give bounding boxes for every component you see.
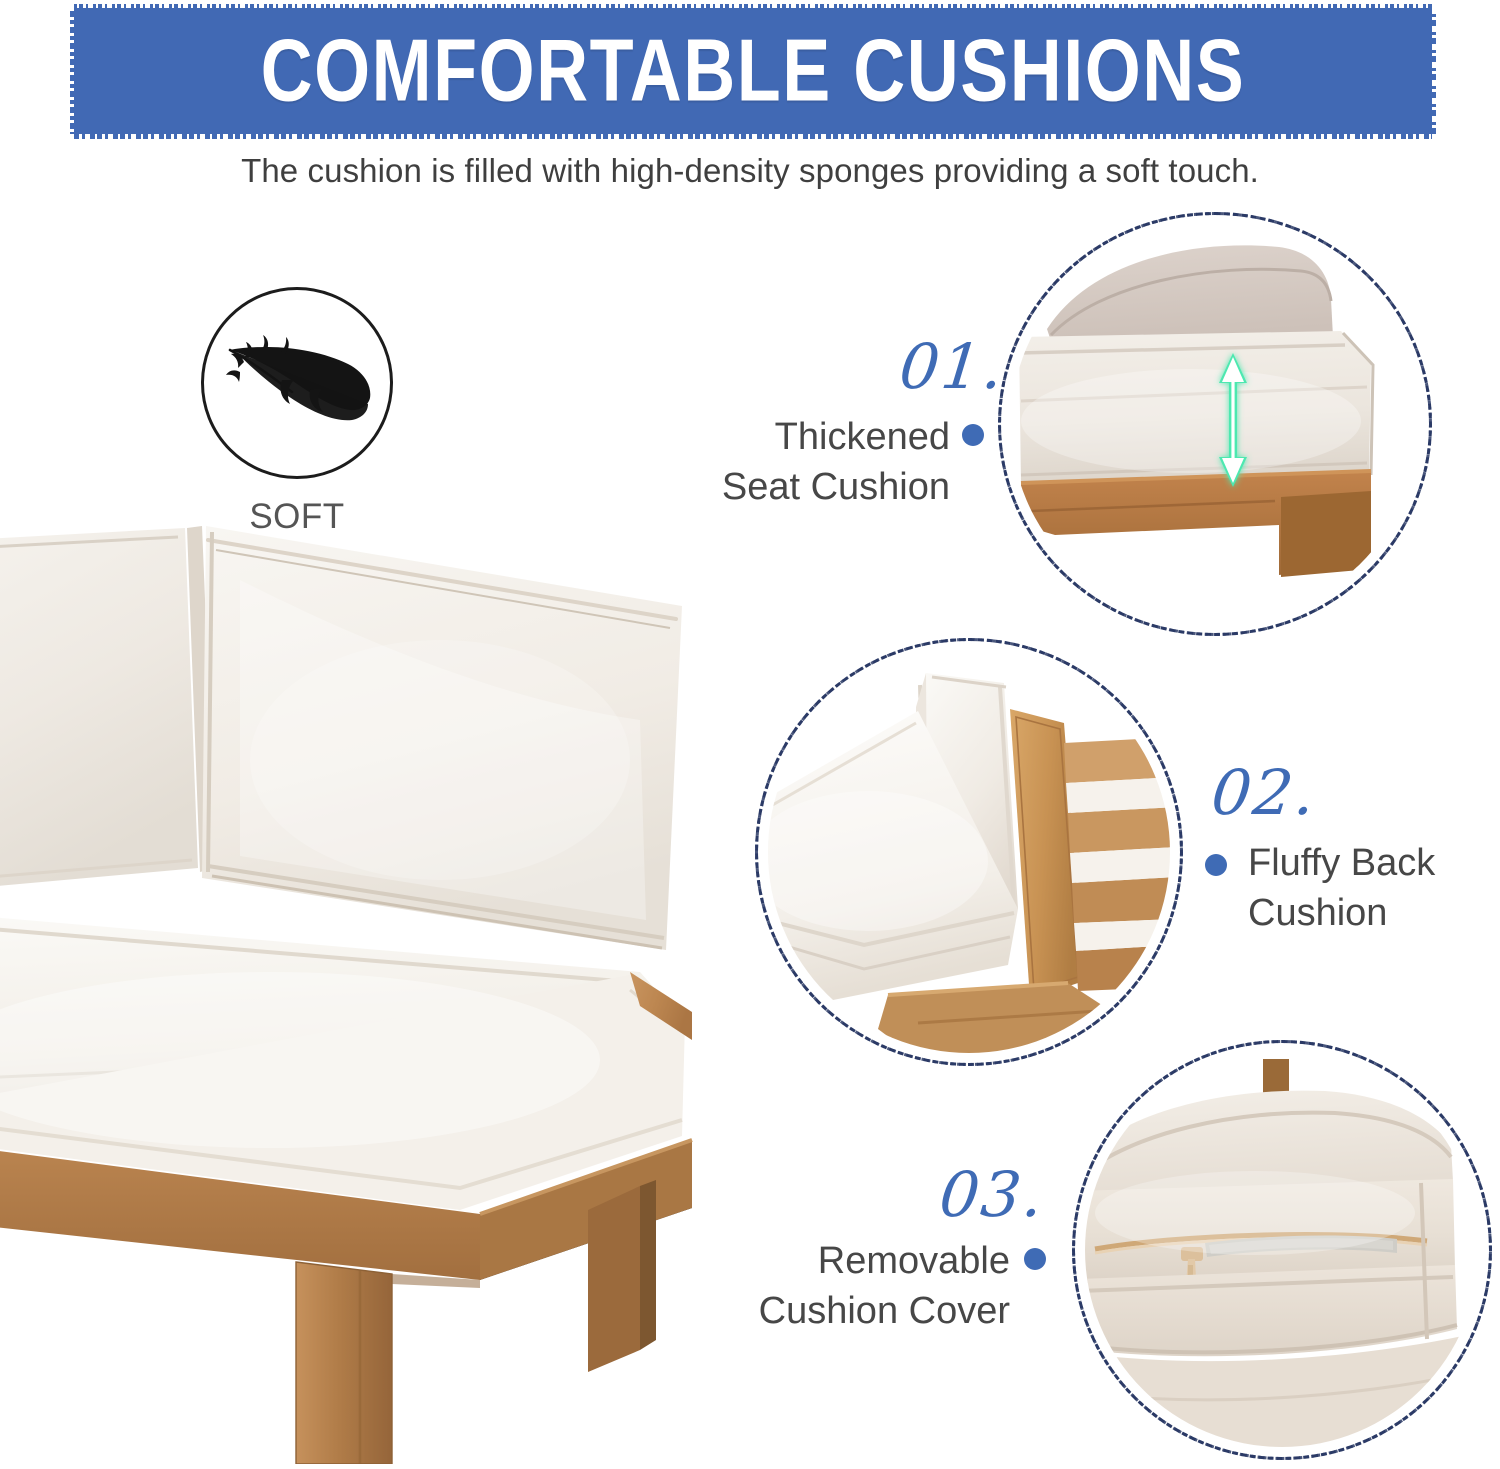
callout-label-01: Thickened Seat Cushion (620, 412, 950, 512)
circle-photo-inner-03 (1085, 1053, 1479, 1447)
callout-bullet-03 (1024, 1248, 1046, 1270)
circle-photo-inner-02 (768, 651, 1170, 1053)
soft-badge: SOFT (197, 287, 397, 537)
callout-label-03: Removable Cushion Cover (660, 1236, 1010, 1336)
page-title: COMFORTABLE CUSHIONS (74, 0, 1432, 148)
circle-photo-inner-01 (1011, 225, 1419, 623)
callout-label-01-line1: Thickened (620, 412, 950, 462)
callout-label-01-line2: Seat Cushion (620, 462, 950, 512)
removable-cushion-cover-photo (1072, 1040, 1492, 1460)
callout-number-01: 01. (896, 330, 1008, 403)
callout-number-02: 02. (1208, 756, 1320, 829)
callout-label-02-line1: Fluffy Back (1248, 838, 1500, 888)
soft-badge-circle (201, 287, 393, 479)
callout-label-02-line2: Cushion (1248, 888, 1500, 938)
callout-label-02: Fluffy Back Cushion (1248, 838, 1500, 938)
infographic-canvas: COMFORTABLE CUSHIONS The cushion is fill… (0, 0, 1500, 1464)
outdoor-sofa-photo (0, 520, 760, 1464)
header-banner: COMFORTABLE CUSHIONS (74, 8, 1432, 134)
fluffy-back-cushion-photo (755, 638, 1183, 1066)
callout-label-03-line1: Removable (660, 1236, 1010, 1286)
page-subtitle: The cushion is filled with high-density … (0, 152, 1500, 190)
thickened-seat-cushion-photo (998, 212, 1432, 636)
feather-icon (222, 328, 372, 438)
callout-number-03: 03. (936, 1158, 1048, 1231)
callout-bullet-01 (962, 424, 984, 446)
callout-label-03-line2: Cushion Cover (660, 1286, 1010, 1336)
callout-bullet-02 (1205, 854, 1227, 876)
